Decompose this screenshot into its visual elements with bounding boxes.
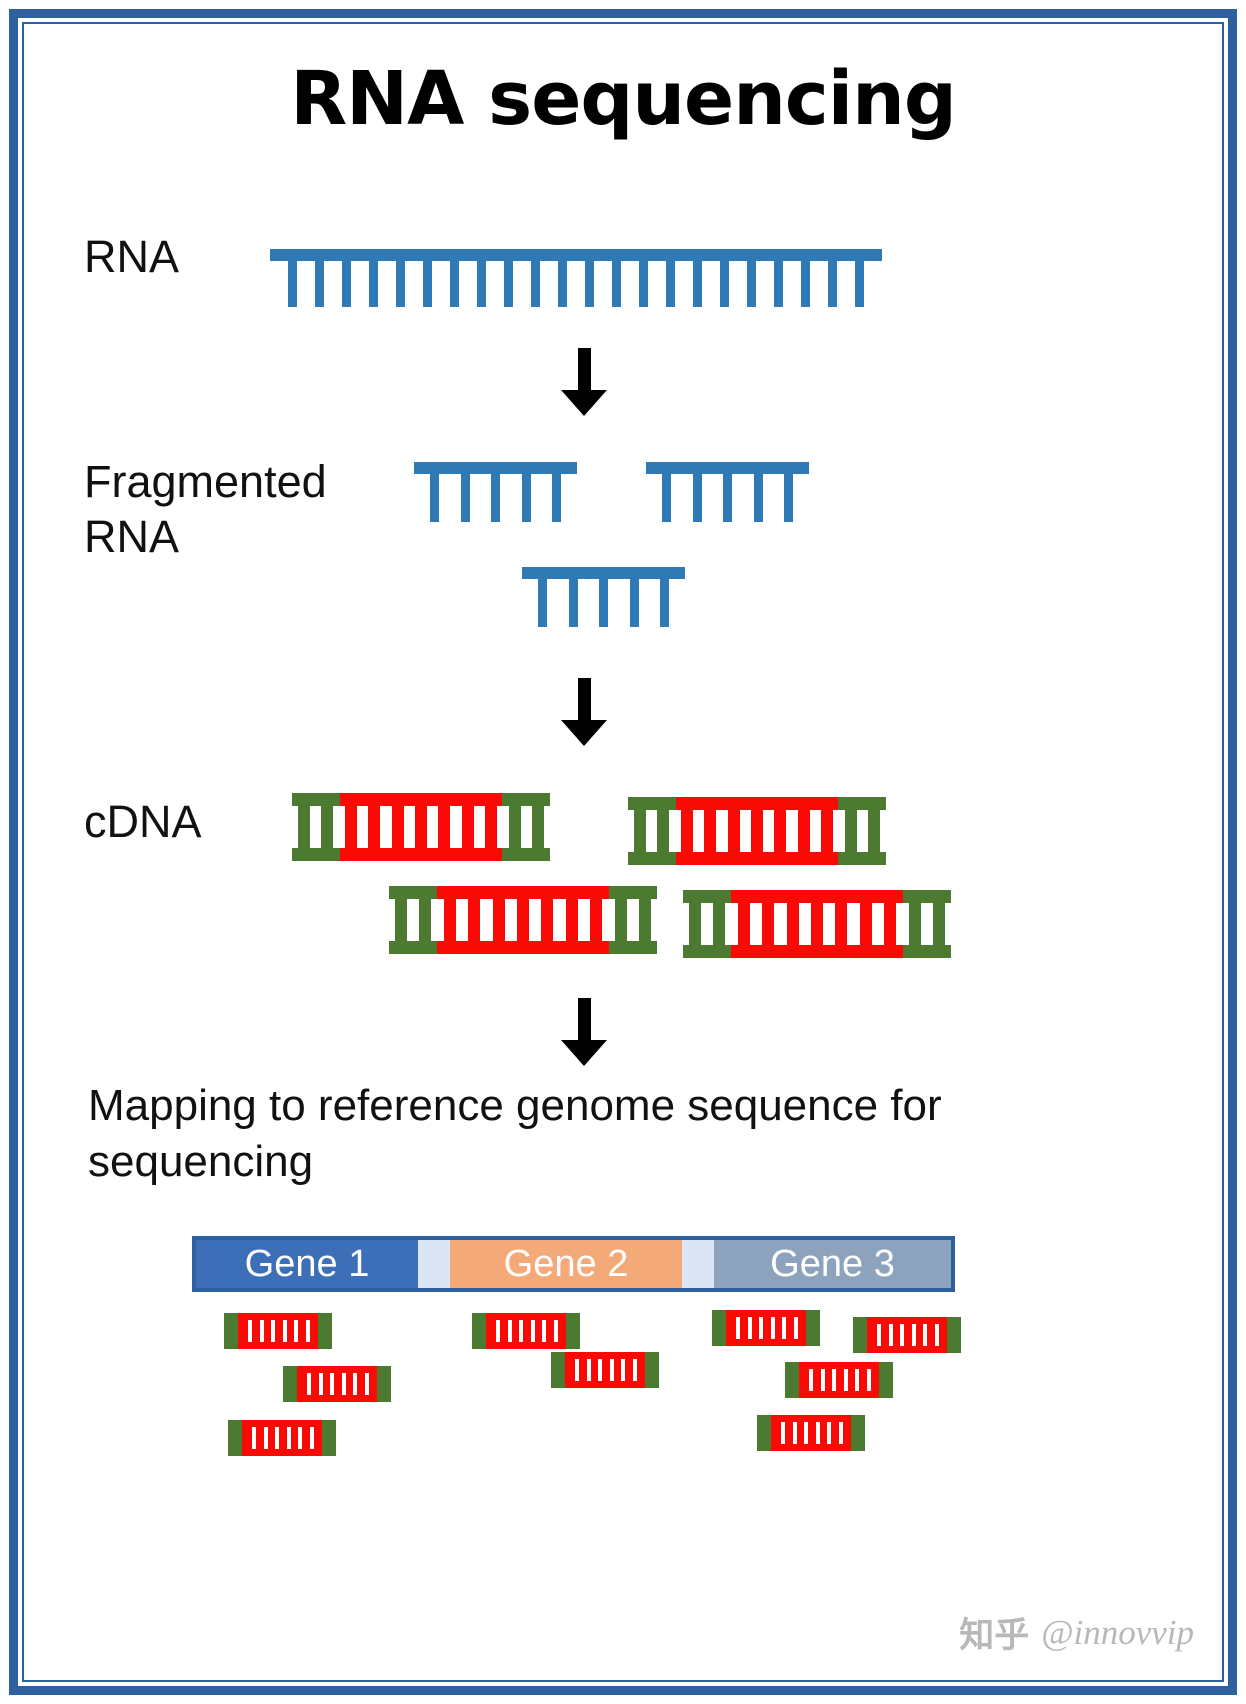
rna-base-tick: [784, 472, 793, 522]
read-base-tick: [496, 1320, 500, 1342]
cdna-base-pair-rung: [762, 901, 774, 947]
read-base-tick: [575, 1359, 579, 1381]
rna-base-tick: [599, 577, 608, 627]
cdna-base-pair-rung: [738, 901, 750, 947]
read-base-tick: [748, 1317, 752, 1339]
cdna-base-pair-rung: [321, 804, 333, 850]
rna-backbone: [270, 249, 882, 261]
stage-label-cdna: cDNA: [84, 795, 202, 850]
rna-base-tick: [396, 259, 405, 307]
read-base-tick: [587, 1359, 591, 1381]
read-base-tick: [283, 1320, 287, 1342]
read-base-tick: [319, 1373, 323, 1395]
read-base-tick: [621, 1359, 625, 1381]
cdna-base-pair-rung: [468, 897, 480, 943]
stage-label-rna: RNA: [84, 230, 179, 285]
read-base-tick: [794, 1317, 798, 1339]
cdna-base-pair-rung: [395, 897, 407, 943]
cdna-base-pair-rung: [835, 901, 847, 947]
cdna-duplex-icon-2: [628, 797, 886, 865]
mapped-read: [224, 1313, 332, 1349]
cdna-base-pair-rung: [298, 804, 310, 850]
cdna-base-pair-rung: [444, 897, 456, 943]
rna-base-tick: [662, 472, 671, 522]
read-base-tick: [353, 1373, 357, 1395]
rna-base-tick: [461, 472, 470, 522]
read-base-tick: [771, 1317, 775, 1339]
arrow-shaft: [578, 678, 591, 722]
cdna-base-pair-rung: [821, 808, 833, 854]
stage-label-fragmented-rna: Fragmented RNA: [84, 455, 327, 565]
read-base-tick: [839, 1422, 843, 1444]
rna-base-tick: [538, 577, 547, 627]
cdna-base-pair-rung: [462, 804, 474, 850]
watermark: 知乎 @innovvip: [959, 1607, 1194, 1658]
rna-base-tick: [569, 577, 578, 627]
read-base-tick: [310, 1427, 314, 1449]
cdna-base-pair-rung: [909, 901, 921, 947]
mapping-caption: Mapping to reference genome sequence for…: [88, 1078, 1088, 1191]
rna-base-tick: [342, 259, 351, 307]
read-base-tick: [877, 1324, 881, 1346]
cdna-base-pair-rung: [657, 808, 669, 854]
reference-segment-gene-1[interactable]: Gene 1: [196, 1240, 418, 1288]
page-title: RNA sequencing: [0, 56, 1246, 142]
mapped-read: [472, 1313, 580, 1349]
rna-base-tick: [828, 259, 837, 307]
mapped-read: [757, 1415, 865, 1451]
gene-label: Gene 1: [245, 1243, 370, 1286]
cdna-base-pair-rung: [845, 808, 857, 854]
read-base-tick: [554, 1320, 558, 1342]
rna-base-tick: [774, 259, 783, 307]
cdna-base-pair-rung: [728, 808, 740, 854]
rna-base-tick: [315, 259, 324, 307]
rna-base-tick: [639, 259, 648, 307]
cdna-base-pair-rung: [681, 808, 693, 854]
read-base-tick: [542, 1320, 546, 1342]
arrow-down-icon-3: [561, 998, 607, 1066]
cdna-base-pair-rung: [774, 808, 786, 854]
read-base-tick: [821, 1369, 825, 1391]
rna-base-tick: [288, 259, 297, 307]
rna-fragment-icon-3: [522, 567, 685, 627]
rna-base-tick: [855, 259, 864, 307]
read-base-tick: [827, 1422, 831, 1444]
read-base-tick: [287, 1427, 291, 1449]
cdna-base-pair-rung: [517, 897, 529, 943]
read-base-tick: [759, 1317, 763, 1339]
gene-label: Gene 2: [504, 1243, 629, 1286]
read-base-tick: [598, 1359, 602, 1381]
mapped-read: [283, 1366, 391, 1402]
cdna-base-pair-rung: [634, 808, 646, 854]
read-base-tick: [307, 1373, 311, 1395]
read-base-tick: [330, 1373, 334, 1395]
rna-base-tick: [693, 472, 702, 522]
read-base-tick: [736, 1317, 740, 1339]
cdna-base-pair-rung: [615, 897, 627, 943]
mapped-read: [853, 1317, 961, 1353]
arrow-head: [561, 1040, 607, 1066]
cdna-duplex-icon-4: [683, 890, 951, 958]
read-base-tick: [855, 1369, 859, 1391]
read-base-tick: [935, 1324, 939, 1346]
read-base-tick: [252, 1427, 256, 1449]
read-base-tick: [804, 1422, 808, 1444]
cdna-base-pair-rung: [509, 804, 521, 850]
cdna-base-pair-rung: [639, 897, 651, 943]
rna-base-tick: [491, 472, 500, 522]
cdna-base-pair-rung: [933, 901, 945, 947]
arrow-down-icon-1: [561, 348, 607, 416]
read-base-tick: [342, 1373, 346, 1395]
rna-base-tick: [369, 259, 378, 307]
rna-base-tick: [693, 259, 702, 307]
reference-segment-gene-gap-2: [682, 1240, 714, 1288]
rna-base-tick: [522, 472, 531, 522]
read-base-tick: [264, 1427, 268, 1449]
rna-base-tick: [558, 259, 567, 307]
cdna-base-pair-rung: [493, 897, 505, 943]
read-base-tick: [260, 1320, 264, 1342]
read-base-tick: [298, 1427, 302, 1449]
rna-base-tick: [477, 259, 486, 307]
rna-base-tick: [531, 259, 540, 307]
cdna-base-pair-rung: [485, 804, 497, 850]
cdna-base-pair-rung: [532, 804, 544, 850]
mapped-read: [551, 1352, 659, 1388]
read-base-tick: [867, 1369, 871, 1391]
zhihu-logo: 知乎: [959, 1607, 1029, 1658]
read-base-tick: [275, 1427, 279, 1449]
read-base-tick: [912, 1324, 916, 1346]
read-base-tick: [809, 1369, 813, 1391]
rna-single-strand-icon: [270, 249, 882, 307]
cdna-base-pair-rung: [787, 901, 799, 947]
cdna-base-pair-rung: [415, 804, 427, 850]
read-base-tick: [519, 1320, 523, 1342]
rna-fragment-icon-2: [646, 462, 809, 522]
cdna-base-pair-rung: [590, 897, 602, 943]
read-base-tick: [633, 1359, 637, 1381]
rna-fragment-icon-1: [414, 462, 577, 522]
cdna-base-pair-rung: [860, 901, 872, 947]
read-base-tick: [306, 1320, 310, 1342]
rna-base-tick: [630, 577, 639, 627]
read-base-tick: [900, 1324, 904, 1346]
mapped-read: [712, 1310, 820, 1346]
read-base-tick: [271, 1320, 275, 1342]
read-base-tick: [844, 1369, 848, 1391]
rna-base-tick: [504, 259, 513, 307]
cdna-base-pair-rung: [419, 897, 431, 943]
arrow-shaft: [578, 998, 591, 1042]
rna-base-tick: [666, 259, 675, 307]
arrow-head: [561, 720, 607, 746]
mapped-read: [228, 1420, 336, 1456]
cdna-base-pair-rung: [345, 804, 357, 850]
cdna-base-pair-rung: [438, 804, 450, 850]
rna-base-tick: [430, 472, 439, 522]
cdna-base-pair-rung: [704, 808, 716, 854]
read-base-tick: [793, 1422, 797, 1444]
cdna-base-pair-rung: [811, 901, 823, 947]
read-base-tick: [816, 1422, 820, 1444]
cdna-base-pair-rung: [798, 808, 810, 854]
read-base-tick: [365, 1373, 369, 1395]
reference-segment-gene-2[interactable]: Gene 2: [450, 1240, 682, 1288]
read-base-tick: [782, 1317, 786, 1339]
cdna-base-pair-rung: [689, 901, 701, 947]
diagram-page: RNA sequencing RNA Fragmented RNA cDNA M…: [0, 0, 1246, 1704]
read-base-tick: [610, 1359, 614, 1381]
cdna-base-pair-rung: [713, 901, 725, 947]
arrow-head: [561, 390, 607, 416]
cdna-base-pair-rung: [868, 808, 880, 854]
rna-base-tick: [423, 259, 432, 307]
read-base-tick: [923, 1324, 927, 1346]
rna-base-tick: [747, 259, 756, 307]
arrow-shaft: [578, 348, 591, 392]
read-base-tick: [531, 1320, 535, 1342]
rna-base-tick: [450, 259, 459, 307]
read-base-tick: [832, 1369, 836, 1391]
read-base-tick: [508, 1320, 512, 1342]
rna-base-tick: [720, 259, 729, 307]
rna-base-tick: [612, 259, 621, 307]
rna-base-tick: [754, 472, 763, 522]
reference-segment-gene-gap-1: [418, 1240, 450, 1288]
read-base-tick: [294, 1320, 298, 1342]
arrow-down-icon-2: [561, 678, 607, 746]
rna-base-tick: [585, 259, 594, 307]
read-base-tick: [889, 1324, 893, 1346]
cdna-base-pair-rung: [541, 897, 553, 943]
mapped-read: [785, 1362, 893, 1398]
rna-base-tick: [552, 472, 561, 522]
cdna-duplex-icon-1: [292, 793, 550, 861]
rna-base-tick: [723, 472, 732, 522]
watermark-handle: @innovvip: [1041, 1613, 1194, 1653]
gene-label: Gene 3: [770, 1243, 895, 1286]
reference-segment-gene-3[interactable]: Gene 3: [714, 1240, 951, 1288]
cdna-base-pair-rung: [368, 804, 380, 850]
cdna-base-pair-rung: [751, 808, 763, 854]
cdna-base-pair-rung: [392, 804, 404, 850]
rna-base-tick: [801, 259, 810, 307]
cdna-base-pair-rung: [884, 901, 896, 947]
rna-base-tick: [660, 577, 669, 627]
reference-genome-bar: Gene 1Gene 2Gene 3: [192, 1236, 955, 1292]
read-base-tick: [781, 1422, 785, 1444]
cdna-base-pair-rung: [566, 897, 578, 943]
cdna-duplex-icon-3: [389, 886, 657, 954]
read-base-tick: [248, 1320, 252, 1342]
